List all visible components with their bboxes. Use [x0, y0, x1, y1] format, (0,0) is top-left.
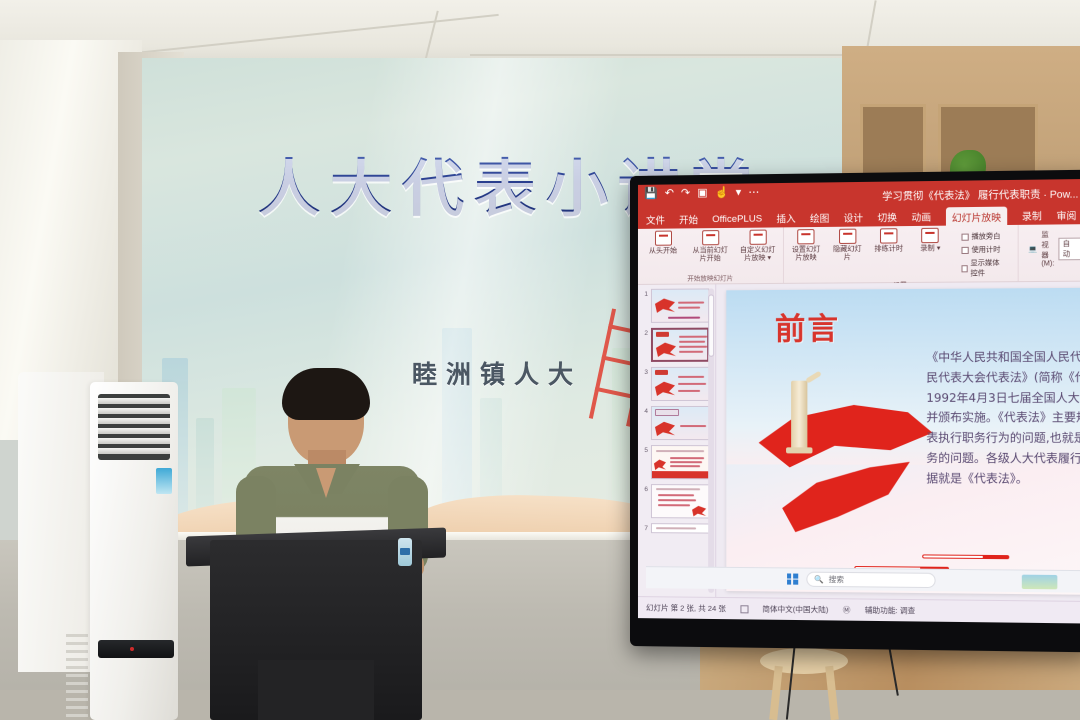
water-bottle — [398, 538, 412, 566]
from-beginning-icon — [654, 231, 671, 246]
search-icon: 🔍 — [814, 575, 824, 584]
slide-editing-area[interactable]: 前言 《中华人民共和国全国人民代表大会和地方各级人 民代表大会代表法》(简称《代… — [716, 282, 1080, 601]
setup-checkbox-list: 播放旁白 使用计时 显示媒体控件 — [955, 227, 1013, 279]
from-current-slide-icon — [702, 230, 719, 245]
tab-design[interactable]: 设计 — [844, 210, 863, 224]
checkbox-box — [961, 233, 968, 240]
lectern-base — [258, 660, 374, 720]
language-indicator[interactable]: 简体中文(中国大陆) — [762, 603, 828, 615]
thumbnail-slide-3[interactable]: 3 — [640, 367, 713, 401]
present-icon[interactable]: ▣ — [697, 186, 707, 199]
current-slide[interactable]: 前言 《中华人民共和国全国人民代表大会和地方各级人 民代表大会代表法》(简称《代… — [726, 288, 1080, 595]
weather-widget[interactable] — [1022, 574, 1058, 589]
rehearse-timings-icon — [880, 228, 897, 243]
set-up-slideshow-button[interactable]: 设置幻灯片放映 — [789, 229, 823, 263]
thumbnail-slide-2[interactable]: 2 — [640, 328, 713, 362]
wooden-stool — [760, 648, 848, 720]
ribbon-group-monitors: 💻 监视器(M): 自动 使用演示者视图 监视器 — [1019, 224, 1080, 281]
tab-insert[interactable]: 插入 — [776, 211, 795, 225]
air-conditioner — [18, 372, 178, 720]
slide-counter[interactable]: 幻灯片 第 2 张, 共 24 张 — [646, 602, 726, 614]
editor-workspace: 1 2 — [638, 282, 1080, 601]
ac-energy-label — [156, 468, 172, 494]
thumbnail-slide-1[interactable]: 1 — [640, 288, 713, 323]
windows-taskbar[interactable]: 🔍 搜索 — [646, 566, 1080, 593]
tab-record[interactable]: 录制 — [1022, 208, 1042, 223]
ribbon: 从头开始 从当前幻灯片开始 自定义幻灯片放映 ▾ 开始放映幻灯片 — [638, 224, 1080, 285]
ribbon-group-label-start: 开始放映幻灯片 — [687, 272, 733, 283]
thumbnail-slide-6[interactable]: 6 — [640, 484, 713, 518]
ribbon-group-start-slideshow: 从头开始 从当前幻灯片开始 自定义幻灯片放映 ▾ 开始放映幻灯片 — [638, 227, 784, 284]
thumbnail-scrollbar[interactable] — [708, 288, 714, 592]
checkbox-use-timings[interactable]: 使用计时 — [961, 244, 1006, 255]
accessibility-status[interactable]: 辅助功能: 调查 — [865, 605, 916, 617]
slide-title[interactable]: 前言 — [775, 304, 840, 349]
hair — [282, 368, 370, 420]
ac-vent — [98, 394, 170, 460]
redo-icon[interactable]: ↷ — [681, 186, 690, 199]
monitor-selector-row[interactable]: 💻 监视器(M): 自动 — [1028, 226, 1080, 267]
undo-icon[interactable]: ↶ — [665, 186, 674, 199]
red-ribbon-graphic — [759, 387, 933, 540]
screen-content: 💾 ↶ ↷ ▣ ☝ ▾ ⋯ 学习贯彻《代表法》 履行代表职责 · Pow... … — [638, 179, 1080, 624]
record-icon — [922, 228, 940, 243]
custom-slideshow-button[interactable]: 自定义幻灯片放映 ▾ — [737, 229, 777, 263]
more-icon[interactable]: ⋯ — [748, 185, 759, 198]
monument-graphic — [791, 381, 807, 450]
tab-officeplus[interactable]: OfficePLUS — [712, 213, 762, 225]
tab-review[interactable]: 审阅 — [1056, 208, 1076, 223]
thumbnail-slide-4[interactable]: 4 — [640, 406, 713, 440]
checkbox-play-narrations[interactable]: 播放旁白 — [961, 231, 1006, 242]
monitor-dropdown[interactable]: 自动 — [1059, 237, 1080, 260]
tab-animations[interactable]: 动画 — [911, 210, 931, 224]
chevron-down-icon[interactable]: ▾ — [736, 186, 742, 199]
tab-file[interactable]: 文件 — [646, 213, 665, 227]
hide-slide-button[interactable]: 隐藏幻灯片 — [830, 229, 864, 263]
accessibility-icon: Ⓜ — [843, 604, 851, 615]
slide-thumbnail-panel[interactable]: 1 2 — [638, 284, 716, 597]
tab-home[interactable]: 开始 — [679, 212, 698, 226]
tab-draw[interactable]: 绘图 — [810, 211, 829, 225]
from-beginning-button[interactable]: 从头开始 — [643, 230, 683, 255]
checkbox-show-media-controls[interactable]: 显示媒体控件 — [961, 258, 1006, 279]
hide-slide-icon — [839, 229, 856, 244]
tab-transitions[interactable]: 切换 — [877, 210, 897, 224]
thumbnail-slide-5[interactable]: 5 — [640, 445, 713, 479]
from-current-slide-button[interactable]: 从当前幻灯片开始 — [690, 230, 730, 264]
monitor-icon: 💻 — [1028, 245, 1037, 253]
checkbox-box — [961, 246, 968, 253]
room-scene: 人大代表小讲堂 睦洲镇人大 — [0, 0, 1080, 720]
custom-slideshow-icon — [749, 230, 766, 245]
set-up-slideshow-icon — [797, 229, 814, 244]
quick-access-toolbar[interactable]: 💾 ↶ ↷ ▣ ☝ ▾ ⋯ — [644, 185, 759, 200]
ribbon-group-setup: 设置幻灯片放映 隐藏幻灯片 排练计时 录制 ▾ — [784, 225, 1019, 283]
rehearse-timings-button[interactable]: 排练计时 — [872, 228, 906, 254]
banner-subtitle: 睦洲镇人大 — [412, 355, 582, 391]
document-title: 学习贯彻《代表法》 履行代表职责 · Pow... — [882, 185, 1078, 203]
record-button[interactable]: 录制 ▾ — [913, 228, 947, 254]
search-placeholder: 搜索 — [829, 574, 844, 585]
thumbnail-slide-7[interactable]: 7 — [640, 523, 713, 534]
checkbox-box — [961, 265, 967, 272]
ac-control-panel[interactable] — [98, 640, 174, 658]
slide-body-text[interactable]: 《中华人民共和国全国人民代表大会和地方各级人 民代表大会代表法》(简称《代表法》… — [926, 347, 1080, 490]
display-screen: 💾 ↶ ↷ ▣ ☝ ▾ ⋯ 学习贯彻《代表法》 履行代表职责 · Pow... … — [630, 170, 1080, 653]
windows-start-icon[interactable] — [787, 573, 798, 584]
spell-check-icon[interactable] — [740, 605, 748, 613]
save-icon[interactable]: 💾 — [644, 187, 658, 200]
touch-mode-icon[interactable]: ☝ — [715, 186, 729, 199]
taskbar-search-input[interactable]: 🔍 搜索 — [806, 572, 935, 588]
